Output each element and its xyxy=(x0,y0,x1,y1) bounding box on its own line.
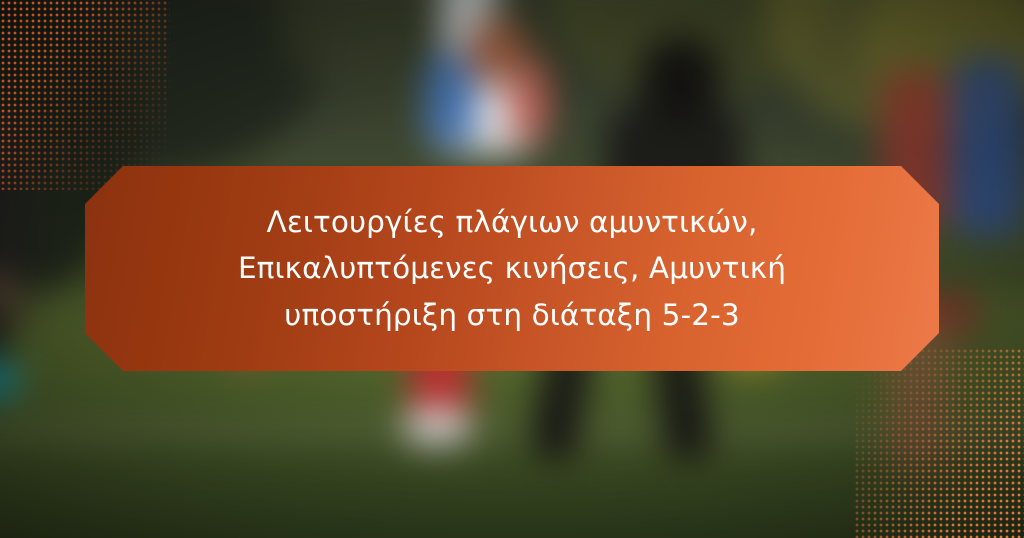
player-dark-head xyxy=(639,37,722,120)
player-white-shoe xyxy=(404,408,470,446)
banner-card: Λειτουργίες πλάγιων αμυντικών, Επικαλυπτ… xyxy=(0,0,1024,538)
page-title: Λειτουργίες πλάγιων αμυντικών, Επικαλυπτ… xyxy=(162,199,862,339)
player-center-head xyxy=(465,16,526,86)
field-marking-line xyxy=(0,424,1024,439)
player-right-blue-shirt xyxy=(951,56,1024,236)
title-banner: Λειτουργίες πλάγιων αμυντικών, Επικαλυπτ… xyxy=(85,166,939,371)
